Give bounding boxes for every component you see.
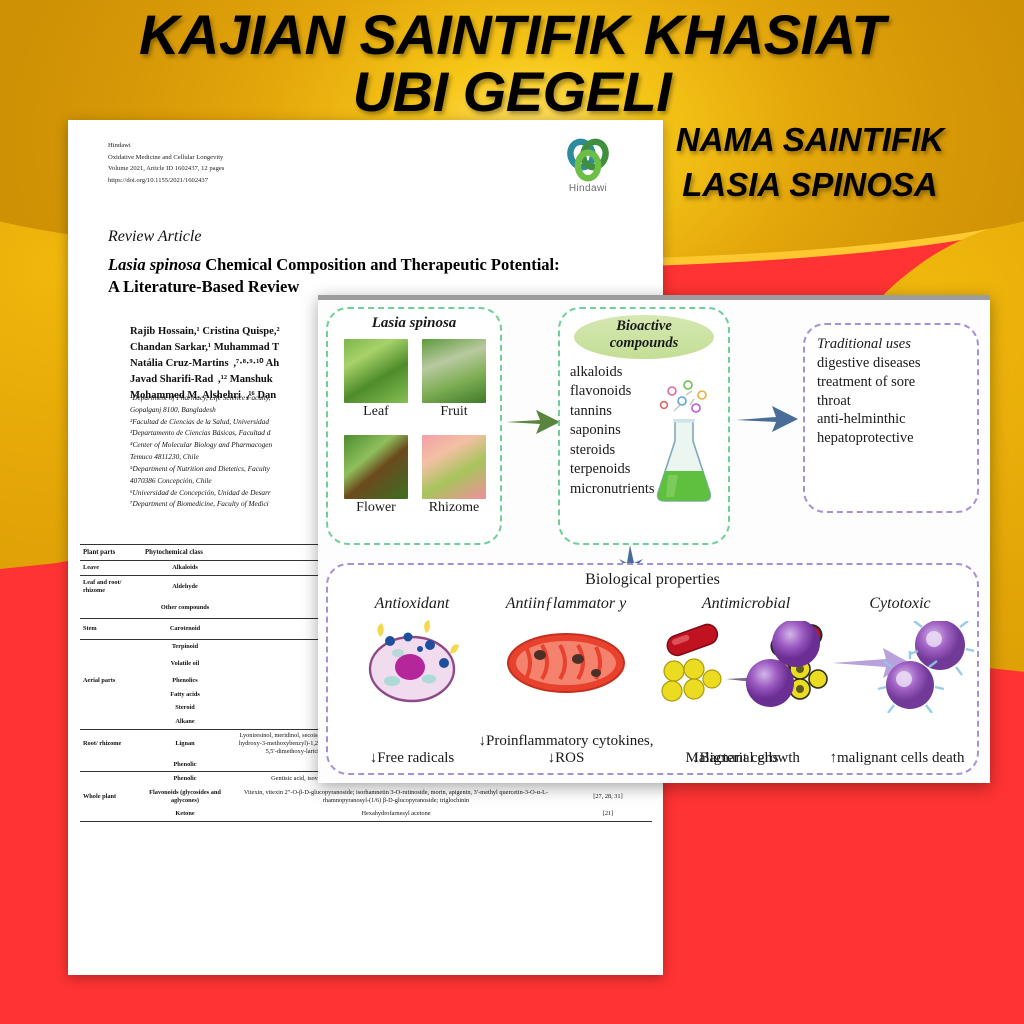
traditional-use-item: treatment of sore	[817, 373, 971, 392]
plant-label-leaf: Leaf	[344, 404, 408, 420]
figure-top-edge	[318, 295, 990, 300]
article-type: Review Article	[108, 228, 201, 246]
biological-properties-title: Biological properties	[328, 571, 977, 589]
cell-phytochemical-class: Terpinoid	[142, 639, 228, 653]
bioactive-pill-line2: compounds	[574, 335, 714, 352]
property-antiinflammatory: Antiinƒlammator y ↓Proinflammatory cytok…	[478, 595, 654, 771]
flower-photo	[344, 435, 408, 499]
property-heading-cytotoxic: Cytotoxic	[826, 595, 974, 613]
bioactive-pill-line1: Bioactive	[574, 318, 714, 335]
poster-title-line2: UBI GEGELI	[0, 63, 1024, 120]
property-caption-antiinflammatory: ↓Proinflammatory cytokines, ↓ROS	[478, 733, 654, 767]
hindawi-logo: Hindawi	[551, 138, 625, 194]
traditional-use-item: anti-helminthic	[817, 410, 971, 429]
cell-plant-part: Root/ rhizome	[80, 729, 142, 758]
cell-plant-part	[80, 758, 142, 772]
cell-phytochemical-class: Phenolic	[142, 758, 228, 772]
cell-plant-part	[80, 597, 142, 618]
cell-phytochemical-class: Other compounds	[142, 597, 228, 618]
cell-phytochemical-class: Alkane	[142, 715, 228, 729]
cell-reference: [27, 28, 31]	[564, 786, 652, 807]
plant-parts-panel: Lasia spinosa Leaf Fruit Flower Rhizome	[326, 307, 502, 545]
cell-plant-part	[80, 715, 142, 729]
plant-panel-title: Lasia spinosa	[328, 315, 500, 332]
cell-phytochemical-class: Phenolic	[142, 772, 228, 786]
table-row: Whole plantFlavonoids (glycosides and ag…	[80, 786, 652, 807]
masthead-journal: Oxidative Medicine and Cellular Longevit…	[108, 152, 224, 164]
cell-plant-part	[80, 772, 142, 786]
cell-plant-part	[80, 654, 142, 674]
article-title-species: Lasia spinosa	[108, 255, 201, 274]
graphical-abstract-figure: Lasia spinosa Leaf Fruit Flower Rhizome	[318, 295, 990, 783]
col-phytochemical-class: Phytochemical class	[142, 545, 228, 561]
cell-phytochemical-class: Carotenoid	[142, 618, 228, 639]
masthead-publisher: Hindawi	[108, 140, 224, 152]
traditional-uses-list: Traditional usesdigestive diseasestreatm…	[817, 335, 971, 448]
cell-plant-part: Whole plant	[80, 786, 142, 807]
cell-phytochemical-class: Alkaloids	[142, 561, 228, 576]
traditional-use-item: hepatoprotective	[817, 429, 971, 448]
cell-compounds: Vitexin, vitexin 2″-O-β-D-glucopyranosid…	[228, 786, 564, 807]
biological-properties-panel: Biological properties Antioxidant	[326, 563, 979, 775]
property-cytotoxic: Cytotoxic	[734, 595, 974, 771]
mitochondrion-icon	[478, 621, 654, 705]
poster-title: KAJIAN SAINTIFIK KHASIAT UBI GEGELI	[0, 6, 1024, 120]
hindawi-logo-mark	[559, 138, 617, 182]
masthead-doi: https://doi.org/10.1155/2021/1602437	[108, 175, 224, 187]
flask-icon	[648, 375, 720, 505]
bioactive-compound-item: steroids	[570, 441, 655, 460]
tumor-cells-icon	[734, 621, 974, 713]
cell-phytochemical-class: Flavonoids (glycosides and aglycones)	[142, 786, 228, 807]
bioactive-compound-item: saponins	[570, 421, 655, 440]
plant-label-fruit: Fruit	[422, 404, 486, 420]
property-heading-antioxidant: Antioxidant	[334, 595, 490, 613]
traditional-uses-heading: Traditional uses	[817, 335, 971, 354]
property-caption-malignant-cells: Malignant cells	[652, 750, 812, 767]
traditional-use-item: throat	[817, 392, 971, 411]
arrow-plant-to-bioactive-icon	[506, 409, 562, 435]
paper-masthead: Hindawi Oxidative Medicine and Cellular …	[108, 140, 224, 187]
property-caption-antioxidant: ↓Free radicals	[334, 750, 490, 767]
cell-plant-part: Aerial parts	[80, 674, 142, 688]
property-antioxidant: Antioxidant ↓Free radicals	[334, 595, 490, 771]
poster-subtitle-line2: LASIA SPINOSA	[630, 163, 990, 208]
property-heading-antiinflammatory: Antiinƒlammator y	[478, 595, 654, 613]
cell-compounds: Hexahydrofarnesyl acetone	[228, 807, 564, 821]
plant-cell-flower: Flower	[344, 435, 408, 516]
traditional-uses-panel: Traditional usesdigestive diseasestreatm…	[803, 323, 979, 513]
property-caption-cytotoxic: ↑malignant cells death	[822, 750, 972, 767]
cell-plant-part	[80, 807, 142, 821]
bioactive-compound-list: alkaloidsflavonoidstanninssaponinssteroi…	[570, 363, 655, 499]
cell-plant-part	[80, 701, 142, 715]
traditional-use-item: digestive diseases	[817, 354, 971, 373]
cell-phytochemical-class: Steroid	[142, 701, 228, 715]
col-plant-parts: Plant parts	[80, 545, 142, 561]
cell-phytochemical-class: Aldehyde	[142, 575, 228, 597]
fruit-photo	[422, 339, 486, 403]
bioactive-compound-item: tannins	[570, 402, 655, 421]
hindawi-logo-wordmark: Hindawi	[551, 183, 625, 194]
leaf-photo	[344, 339, 408, 403]
bioactive-compound-item: alkaloids	[570, 363, 655, 382]
cell-plant-part: Stem	[80, 618, 142, 639]
cell-plant-part: Leave	[80, 561, 142, 576]
cell-phytochemical-class: Fatty acids	[142, 688, 228, 702]
table-row: KetoneHexahydrofarnesyl acetone[21]	[80, 807, 652, 821]
bioactive-compounds-panel: Bioactive compounds alkaloidsflavonoidst…	[558, 307, 730, 545]
cell-phytochemical-class: Volatile oil	[142, 654, 228, 674]
cell-phytochemical-class: Ketone	[142, 807, 228, 821]
plant-cell-rhizome: Rhizome	[422, 435, 486, 516]
poster-title-line1: KAJIAN SAINTIFIK KHASIAT	[139, 3, 885, 66]
article-title: Lasia spinosa Chemical Composition and T…	[108, 254, 608, 298]
cell-phytochemical-class: Phenolics	[142, 674, 228, 688]
arrow-bioactive-to-traditional-icon	[736, 405, 800, 433]
poster-subtitle: NAMA SAINTIFIK LASIA SPINOSA	[630, 118, 990, 207]
bioactive-compound-item: terpenoids	[570, 460, 655, 479]
bioactive-compound-item: flavonoids	[570, 382, 655, 401]
article-title-rest: Chemical Composition and Therapeutic Pot…	[201, 255, 560, 274]
cell-phytochemical-class: Lignan	[142, 729, 228, 758]
poster-canvas: KAJIAN SAINTIFIK KHASIAT UBI GEGELI NAMA…	[0, 0, 1024, 1024]
plant-cell-leaf: Leaf	[344, 339, 408, 420]
cell-plant-part: Leaf and root/ rhizome	[80, 575, 142, 597]
cell-plant-part	[80, 688, 142, 702]
cell-reference: [21]	[564, 807, 652, 821]
cell-plant-part	[80, 639, 142, 653]
plant-label-flower: Flower	[344, 500, 408, 516]
plant-label-rhizome: Rhizome	[422, 500, 486, 516]
bioactive-pill: Bioactive compounds	[574, 315, 714, 359]
plant-cell-fruit: Fruit	[422, 339, 486, 420]
poster-subtitle-line1: NAMA SAINTIFIK	[630, 118, 990, 163]
article-title-line2: A Literature-Based Review	[108, 277, 299, 296]
rhizome-photo	[422, 435, 486, 499]
masthead-volume: Volume 2021, Article ID 1602437, 12 page…	[108, 163, 224, 175]
cell-antioxidant-icon	[334, 619, 490, 711]
bioactive-compound-item: micronutrients	[570, 480, 655, 499]
